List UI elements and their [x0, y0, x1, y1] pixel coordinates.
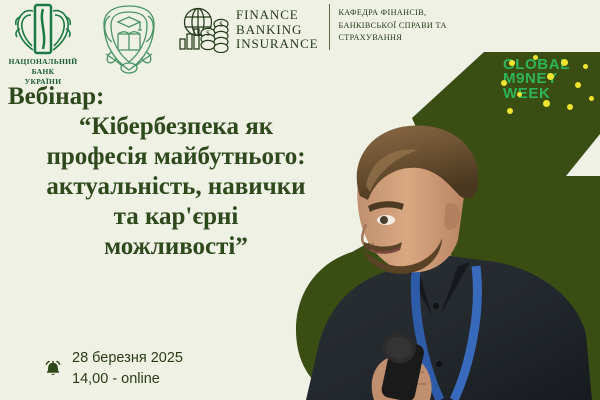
logo-university	[86, 0, 172, 76]
event-text: 28 березня 2025 14,00 - online	[72, 348, 183, 390]
fbi-word-finance: FINANCE	[236, 8, 319, 23]
logo-nbu: НАЦІОНАЛЬНИЙ БАНК УКРАЇНИ	[0, 0, 86, 87]
gmw-dot	[517, 92, 522, 97]
title-line-5: та кар'єрні	[0, 202, 352, 232]
department-line-3: СТРАХУВАННЯ	[339, 32, 447, 45]
gmw-dot	[575, 82, 581, 88]
webinar-poster: НАЦІОНАЛЬНИЙ БАНК УКРАЇНИ	[0, 0, 600, 400]
svg-text:$: $	[219, 21, 223, 29]
svg-text:$: $	[206, 30, 210, 38]
nbu-caption-line-2: БАНК	[32, 68, 55, 77]
global-money-week-badge: GLOBAL M9NEY WEEK	[503, 58, 595, 116]
gmw-dot	[533, 55, 538, 60]
gmw-dot	[547, 73, 554, 80]
logo-finance-banking-insurance: $ $ FINANCE BANKING INSURANCE	[172, 0, 319, 53]
department-name: КАФЕДРА ФІНАНСІВ, БАНКІВСЬКОЇ СПРАВИ ТА …	[339, 0, 447, 45]
department-line-1: КАФЕДРА ФІНАНСІВ,	[339, 7, 447, 20]
event-details: 28 березня 2025 14,00 - online	[44, 348, 183, 390]
gmw-dot	[589, 96, 594, 101]
header-logos: НАЦІОНАЛЬНИЙ БАНК УКРАЇНИ	[0, 0, 447, 90]
gmw-dot	[561, 59, 568, 66]
fbi-word-insurance: INSURANCE	[236, 37, 319, 52]
gmw-dot	[507, 108, 513, 114]
fbi-word-banking: BANKING	[236, 23, 319, 38]
nbu-emblem-icon	[13, 3, 73, 57]
title-line-1: Вебінар:	[0, 82, 352, 112]
header-divider	[329, 4, 330, 50]
event-date: 28 березня 2025	[72, 348, 183, 369]
department-line-2: БАНКІВСЬКОЇ СПРАВИ ТА	[339, 20, 447, 33]
event-time: 14,00 - online	[72, 369, 183, 390]
webinar-title: Вебінар: “Кібербезпека як професія майбу…	[0, 82, 352, 262]
title-line-3: професія майбутнього:	[0, 142, 352, 172]
gmw-dot	[543, 100, 550, 107]
nbu-caption-line-1: НАЦІОНАЛЬНИЙ	[9, 58, 78, 67]
alarm-bell-icon	[44, 360, 62, 378]
title-line-2: “Кібербезпека як	[0, 112, 352, 142]
gmw-dot	[509, 60, 515, 66]
fbi-wordmark: FINANCE BANKING INSURANCE	[236, 8, 319, 52]
title-line-6: можливості”	[0, 232, 352, 262]
title-line-4: актуальність, навички	[0, 172, 352, 202]
gmw-dot	[501, 80, 507, 86]
globe-coins-chart-icon: $ $	[176, 7, 230, 53]
university-crest-icon	[92, 2, 166, 76]
gmw-dot	[567, 104, 573, 110]
gmw-dot	[583, 64, 588, 69]
